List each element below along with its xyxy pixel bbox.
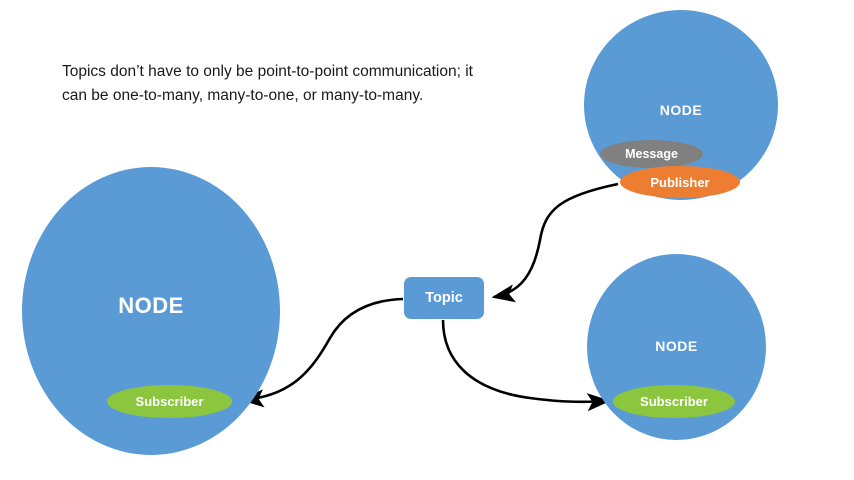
- subscriber-pill-right: Subscriber: [613, 385, 735, 418]
- publisher-node-label: NODE: [584, 102, 778, 118]
- caption-text: Topics don’t have to only be point-to-po…: [62, 60, 482, 108]
- message-pill: Message: [600, 140, 703, 168]
- subscriber-node-left-label: NODE: [22, 293, 280, 319]
- arrow-publisher-to-topic: [494, 184, 618, 297]
- arrow-topic-to-subscriber-right: [443, 320, 608, 402]
- subscriber-node-right-label: NODE: [587, 338, 766, 354]
- topic-box: Topic: [404, 277, 484, 319]
- diagram-canvas: Topics don’t have to only be point-to-po…: [0, 0, 854, 480]
- publisher-pill: Publisher: [620, 166, 740, 198]
- subscriber-pill-left: Subscriber: [107, 385, 232, 418]
